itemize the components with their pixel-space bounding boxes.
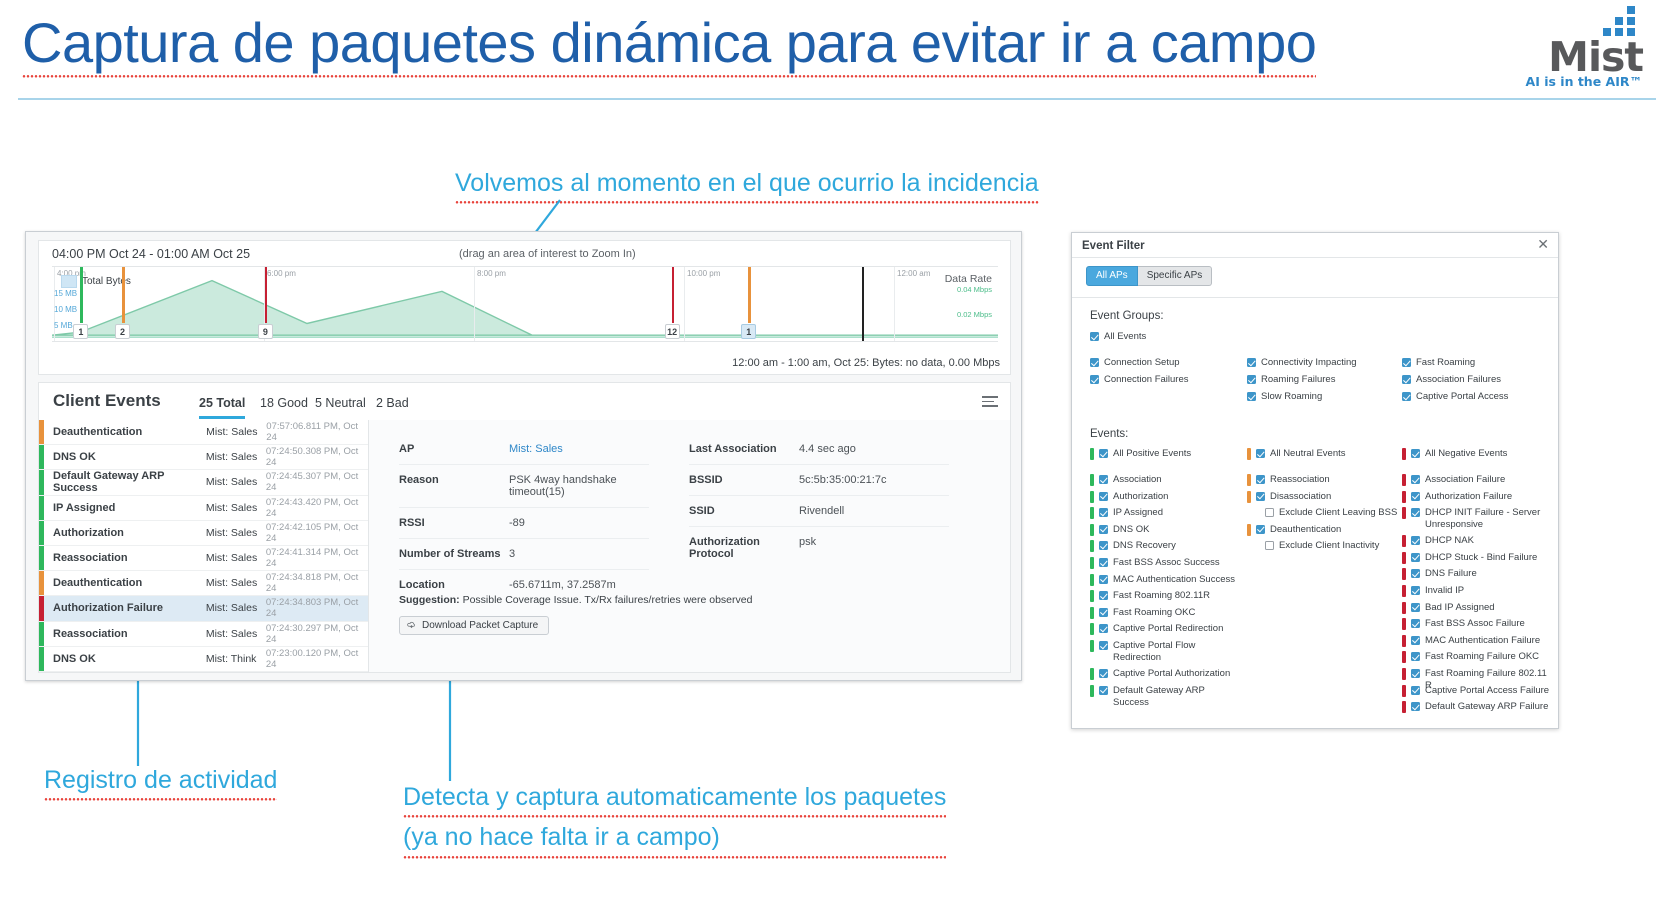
checkbox-event-type[interactable]: Fast Roaming OKC [1090, 607, 1240, 619]
severity-pill-icon [1402, 474, 1406, 486]
segment-specific-aps[interactable]: Specific APs [1138, 266, 1213, 286]
checkbox-label: Authorization [1113, 491, 1168, 503]
client-event-row[interactable]: DNS OKMist: Think07:23:00.120 PM, Oct 24 [39, 647, 368, 672]
checkbox-label: Invalid IP [1425, 585, 1464, 597]
tab-neutral[interactable]: 5 Neutral [315, 396, 366, 416]
severity-pill-icon [1090, 590, 1094, 602]
event-name: Authorization Failure [53, 602, 206, 614]
download-button-label: Download Packet Capture [422, 620, 538, 631]
event-groups-label: Event Groups: [1090, 310, 1164, 322]
checkbox-label: Fast BSS Assoc Failure [1425, 618, 1525, 630]
tab-bad[interactable]: 2 Bad [376, 396, 409, 416]
checkbox-icon [1265, 541, 1274, 550]
event-filter-divider-1 [1072, 257, 1558, 258]
checkbox-icon [1411, 636, 1420, 645]
y-tick-5mb: 5 MB [54, 321, 73, 330]
client-event-row[interactable]: ReassociationMist: Sales07:24:30.297 PM,… [39, 622, 368, 647]
timeline-event-marker-bar[interactable] [748, 267, 751, 323]
detail-value: -89 [509, 517, 525, 529]
client-event-row[interactable]: DeauthenticationMist: Sales07:57:06.811 … [39, 420, 368, 445]
checkbox-icon [1411, 619, 1420, 628]
severity-pill-icon [1247, 474, 1251, 486]
checkbox-event-type[interactable]: Invalid IP [1402, 585, 1552, 597]
checkbox-event-type[interactable]: Exclude Client Inactivity [1265, 540, 1415, 552]
mist-dashboard-screenshot: 04:00 PM Oct 24 - 01:00 AM Oct 25 (drag … [25, 231, 1022, 681]
checkbox-event-type[interactable]: Default Gateway ARP Failure [1402, 701, 1552, 713]
checkbox-label: Fast Roaming 802.11R [1113, 590, 1210, 602]
checkbox-icon [1099, 669, 1108, 678]
checkbox-label: DHCP Stuck - Bind Failure [1425, 552, 1537, 564]
detail-row: APMist: Sales [399, 434, 649, 465]
event-name: DNS OK [53, 451, 206, 463]
checkbox-icon [1411, 652, 1420, 661]
timeline-event-marker-label[interactable]: 2 [115, 324, 130, 339]
detail-key: SSID [689, 505, 799, 517]
detail-row: BSSID5c:5b:35:00:21:7c [689, 465, 949, 496]
detail-key: AP [399, 443, 509, 455]
event-name: Reassociation [53, 628, 206, 640]
severity-pill-icon [1090, 557, 1094, 569]
detail-row: ReasonPSK 4way handshake timeout(15) [399, 465, 649, 508]
event-filter-panel: Event Filter ✕ All APs Specific APs Even… [1071, 232, 1559, 729]
checkbox-label: Slow Roaming [1261, 391, 1322, 403]
checkbox-event-type[interactable]: Captive Portal Redirection [1090, 623, 1240, 635]
download-cloud-icon [407, 621, 416, 630]
total-bytes-area-series [52, 267, 998, 341]
y-tick-15mb: 15 MB [54, 289, 77, 298]
event-name: Deauthentication [53, 577, 206, 589]
checkbox-label: Captive Portal Flow Redirection [1113, 640, 1240, 664]
checkbox-label: Captive Portal Access [1416, 391, 1508, 403]
event-severity-stripe [39, 571, 44, 595]
detail-key: Reason [399, 474, 509, 486]
severity-pill-icon [1247, 491, 1251, 503]
severity-pill-icon [1090, 540, 1094, 552]
checkbox-event-type[interactable]: DNS OK [1090, 524, 1240, 536]
detail-key: Number of Streams [399, 548, 509, 560]
detail-column-left: APMist: SalesReasonPSK 4way handshake ti… [399, 434, 649, 600]
event-ap: Mist: Sales [206, 476, 266, 488]
checkbox-icon [1099, 591, 1108, 600]
checkbox-label: Disassociation [1270, 491, 1331, 503]
checkbox-event-group[interactable]: Captive Portal Access [1402, 391, 1508, 403]
timeline-event-marker-bar[interactable] [672, 267, 675, 323]
checkbox-label: Connection Setup [1104, 357, 1180, 369]
severity-pill-icon [1402, 507, 1406, 519]
checkbox-label: DNS Failure [1425, 568, 1477, 580]
client-event-row[interactable]: IP AssignedMist: Sales07:24:43.420 PM, O… [39, 496, 368, 521]
checkbox-label: Captive Portal Authorization [1113, 668, 1230, 680]
event-timestamp: 07:24:42.105 PM, Oct 24 [266, 522, 368, 544]
checkbox-icon [1411, 536, 1420, 545]
legend-swatch-total-bytes [61, 275, 77, 288]
timeline-event-marker-label[interactable]: 12 [665, 324, 680, 339]
data-rate-value-2: 0.02 Mbps [945, 310, 992, 319]
severity-pill-icon [1402, 668, 1406, 680]
event-filter-title: Event Filter [1082, 240, 1145, 252]
event-severity-stripe [39, 647, 44, 671]
checkbox-all-negative-events[interactable]: All Negative Events [1402, 448, 1552, 460]
checkbox-icon [1099, 575, 1108, 584]
event-ap: Mist: Think [206, 653, 266, 665]
checkbox-all-events[interactable]: All Events [1090, 331, 1146, 343]
checkbox-event-group[interactable]: Slow Roaming [1247, 391, 1322, 403]
timeline-event-marker-bar[interactable] [80, 267, 83, 323]
checkbox-label: All Events [1104, 331, 1146, 343]
event-timestamp: 07:24:43.420 PM, Oct 24 [266, 497, 368, 519]
detail-key: RSSI [399, 517, 509, 529]
severity-pill-icon [1090, 474, 1094, 486]
timeline-zoom-hint: (drag an area of interest to Zoom In) [459, 248, 636, 260]
detail-row: RSSI-89 [399, 508, 649, 539]
checkbox-event-group[interactable]: Connection Failures [1090, 374, 1189, 386]
client-events-header: Client Events 25 Total 18 Good 5 Neutral… [39, 383, 1010, 420]
checkbox-icon [1411, 569, 1420, 578]
checkbox-icon [1411, 586, 1420, 595]
checkbox-label: Association Failure [1425, 474, 1505, 486]
checkbox-icon [1099, 686, 1108, 695]
severity-pill-icon [1402, 685, 1406, 697]
checkbox-label: Reassociation [1270, 474, 1330, 486]
severity-pill-icon [1402, 535, 1406, 547]
checkbox-label: MAC Authentication Success [1113, 574, 1235, 586]
checkbox-event-type[interactable]: Reassociation [1247, 474, 1397, 486]
checkbox-label: Default Gateway ARP Success [1113, 685, 1240, 709]
checkbox-icon [1402, 392, 1411, 401]
x-tick-4: 12:00 am [897, 269, 930, 278]
suggestion-text: Suggestion: Possible Coverage Issue. Tx/… [399, 594, 752, 606]
timeline-chart[interactable]: 4:00 pm 6:00 pm 8:00 pm 10:00 pm 12:00 a… [52, 266, 998, 342]
event-timestamp: 07:24:50.308 PM, Oct 24 [266, 446, 368, 468]
event-name: Default Gateway ARP Success [53, 470, 206, 494]
checkbox-icon [1099, 558, 1108, 567]
checkbox-icon [1256, 525, 1265, 534]
checkbox-label: All Negative Events [1425, 448, 1507, 460]
event-name: DNS OK [53, 653, 206, 665]
event-ap: Mist: Sales [206, 502, 266, 514]
event-timestamp: 07:24:34.803 PM, Oct 24 [266, 597, 368, 619]
timeline-card: 04:00 PM Oct 24 - 01:00 AM Oct 25 (drag … [38, 240, 1011, 375]
checkbox-icon [1099, 641, 1108, 650]
checkbox-icon [1411, 475, 1420, 484]
checkbox-label: Connectivity Impacting [1261, 357, 1357, 369]
severity-pill-icon [1247, 524, 1251, 536]
checkbox-label: MAC Authentication Failure [1425, 635, 1540, 647]
severity-pill-icon [1247, 448, 1251, 460]
detail-value: psk [799, 536, 816, 548]
event-name: Reassociation [53, 552, 206, 564]
checkbox-icon [1090, 375, 1099, 384]
checkbox-icon [1411, 508, 1420, 517]
detail-value: -65.6711m, 37.2587m [509, 579, 616, 591]
events-label: Events: [1090, 428, 1128, 440]
close-icon[interactable]: ✕ [1537, 237, 1549, 251]
data-rate-legend: Data Rate 0.04 Mbps 0.02 Mbps [945, 273, 992, 319]
checkbox-event-type[interactable]: Association Failure [1402, 474, 1552, 486]
detail-value[interactable]: Mist: Sales [509, 443, 563, 455]
event-severity-stripe [39, 596, 44, 620]
checkbox-label: Exclude Client Inactivity [1279, 540, 1379, 552]
checkbox-icon [1099, 525, 1108, 534]
detail-key: Last Association [689, 443, 799, 455]
annotation-bottom-middle-line1: Detecta y captura automaticamente los pa… [403, 782, 946, 818]
detail-value: Rivendell [799, 505, 844, 517]
checkbox-icon [1090, 332, 1099, 341]
ap-scope-segmented-control: All APs Specific APs [1086, 266, 1212, 286]
annotation-bottom-middle: Detecta y captura automaticamente los pa… [403, 782, 946, 859]
timeline-event-marker-label[interactable]: 1 [73, 324, 88, 339]
data-rate-value-1: 0.04 Mbps [945, 285, 992, 294]
checkbox-label: Fast BSS Assoc Success [1113, 557, 1220, 569]
checkbox-event-type[interactable]: Exclude Client Leaving BSS [1265, 507, 1415, 519]
checkbox-event-type[interactable]: Fast BSS Assoc Success [1090, 557, 1240, 569]
data-rate-label: Data Rate [945, 273, 992, 285]
checkbox-event-type[interactable]: DHCP NAK [1402, 535, 1552, 547]
checkbox-icon [1099, 508, 1108, 517]
checkbox-event-group[interactable]: Association Failures [1402, 374, 1501, 386]
checkbox-event-type[interactable]: DHCP INIT Failure - Server Unresponsive [1402, 507, 1552, 531]
severity-pill-icon [1402, 568, 1406, 580]
event-ap: Mist: Sales [206, 451, 266, 463]
segment-all-aps[interactable]: All APs [1086, 266, 1138, 286]
hamburger-icon[interactable] [982, 396, 998, 408]
timeline-event-marker-label[interactable]: 1 [741, 324, 756, 339]
checkbox-event-group[interactable]: Fast Roaming [1402, 357, 1475, 369]
checkbox-event-type[interactable]: IP Assigned [1090, 507, 1240, 519]
client-event-row[interactable]: Default Gateway ARP SuccessMist: Sales07… [39, 470, 368, 495]
checkbox-event-type[interactable]: MAC Authentication Failure [1402, 635, 1552, 647]
download-packet-capture-button[interactable]: Download Packet Capture [399, 616, 549, 635]
checkbox-label: Connection Failures [1104, 374, 1189, 386]
client-event-row[interactable]: AuthorizationMist: Sales07:24:42.105 PM,… [39, 521, 368, 546]
checkbox-icon [1411, 686, 1420, 695]
page-title: Captura de paquetes dinámica para evitar… [22, 14, 1316, 78]
checkbox-event-type[interactable]: MAC Authentication Success [1090, 574, 1240, 586]
detail-value: PSK 4way handshake timeout(15) [509, 474, 649, 498]
checkbox-label: Roaming Failures [1261, 374, 1335, 386]
checkbox-icon [1090, 358, 1099, 367]
checkbox-event-type[interactable]: Fast Roaming Failure OKC [1402, 651, 1552, 663]
event-timestamp: 07:24:34.818 PM, Oct 24 [266, 572, 368, 594]
detail-value: 5c:5b:35:00:21:7c [799, 474, 886, 486]
checkbox-event-group[interactable]: Roaming Failures [1247, 374, 1335, 386]
detail-row: SSIDRivendell [689, 496, 949, 527]
checkbox-label: DHCP NAK [1425, 535, 1474, 547]
checkbox-event-group[interactable]: Connection Setup [1090, 357, 1180, 369]
event-severity-stripe [39, 420, 44, 444]
severity-pill-icon [1402, 701, 1406, 713]
checkbox-event-group[interactable]: Connectivity Impacting [1247, 357, 1357, 369]
severity-pill-icon [1090, 507, 1094, 519]
severity-pill-icon [1090, 623, 1094, 635]
checkbox-event-type[interactable]: Captive Portal Access Failure [1402, 685, 1552, 697]
client-event-row[interactable]: ReassociationMist: Sales07:24:41.314 PM,… [39, 546, 368, 571]
checkbox-label: All Positive Events [1113, 448, 1191, 460]
severity-pill-icon [1090, 491, 1094, 503]
checkbox-label: Captive Portal Redirection [1113, 623, 1223, 635]
event-timestamp: 07:24:30.297 PM, Oct 24 [266, 623, 368, 645]
checkbox-event-type[interactable]: Disassociation [1247, 491, 1397, 503]
checkbox-icon [1247, 392, 1256, 401]
checkbox-icon [1247, 375, 1256, 384]
severity-pill-icon [1402, 585, 1406, 597]
checkbox-event-type[interactable]: Fast Roaming 802.11R [1090, 590, 1240, 602]
severity-pill-icon [1402, 491, 1406, 503]
checkbox-icon [1247, 358, 1256, 367]
tab-good[interactable]: 18 Good [260, 396, 308, 416]
event-severity-stripe [39, 622, 44, 646]
checkbox-all-positive-events[interactable]: All Positive Events [1090, 448, 1240, 460]
x-tick-3: 10:00 pm [687, 269, 720, 278]
checkbox-event-type[interactable]: Bad IP Assigned [1402, 602, 1552, 614]
checkbox-label: Fast Roaming Failure OKC [1425, 651, 1539, 663]
checkbox-icon [1402, 358, 1411, 367]
severity-pill-icon [1090, 574, 1094, 586]
checkbox-event-type[interactable]: Captive Portal Authorization [1090, 668, 1240, 680]
client-events-title: Client Events [53, 391, 161, 411]
suggestion-label: Suggestion: [399, 594, 460, 606]
severity-pill-icon [1090, 524, 1094, 536]
detail-value: 4.4 sec ago [799, 443, 856, 455]
checkbox-icon [1099, 541, 1108, 550]
checkbox-label: Default Gateway ARP Failure [1425, 701, 1548, 713]
event-severity-stripe [39, 445, 44, 469]
annotation-bottom-middle-line2: (ya no hace falta ir a campo) [403, 822, 946, 858]
detail-row: Last Association4.4 sec ago [689, 434, 949, 465]
severity-pill-icon [1402, 635, 1406, 647]
checkbox-event-type[interactable]: Deauthentication [1247, 524, 1397, 536]
event-name: Authorization [53, 527, 206, 539]
event-name: Deauthentication [53, 426, 206, 438]
checkbox-label: Association Failures [1416, 374, 1501, 386]
tab-total[interactable]: 25 Total [199, 396, 245, 419]
checkbox-label: All Neutral Events [1270, 448, 1346, 460]
checkbox-icon [1411, 449, 1420, 458]
checkbox-event-type[interactable]: Fast BSS Assoc Failure [1402, 618, 1552, 630]
event-ap: Mist: Sales [206, 426, 266, 438]
event-ap: Mist: Sales [206, 527, 266, 539]
checkbox-icon [1099, 475, 1108, 484]
client-events-list[interactable]: DeauthenticationMist: Sales07:57:06.811 … [39, 420, 369, 672]
severity-pill-icon [1090, 640, 1094, 652]
event-severity-stripe [39, 496, 44, 520]
checkbox-label: DNS Recovery [1113, 540, 1176, 552]
checkbox-event-type[interactable]: Authorization Failure [1402, 491, 1552, 503]
checkbox-icon [1256, 449, 1265, 458]
checkbox-label: Deauthentication [1270, 524, 1341, 536]
detail-row: Authorization Protocolpsk [689, 527, 949, 569]
timeline-event-marker-bar[interactable] [122, 267, 125, 323]
event-severity-stripe [39, 521, 44, 545]
checkbox-event-type[interactable]: Association [1090, 474, 1240, 486]
severity-pill-icon [1090, 448, 1094, 460]
checkbox-icon [1265, 508, 1274, 517]
severity-pill-icon [1402, 552, 1406, 564]
suggestion-body: Possible Coverage Issue. Tx/Rx failures/… [460, 594, 753, 606]
checkbox-icon [1256, 475, 1265, 484]
checkbox-icon [1099, 449, 1108, 458]
checkbox-icon [1099, 624, 1108, 633]
event-timestamp: 07:24:41.314 PM, Oct 24 [266, 547, 368, 569]
checkbox-all-neutral-events[interactable]: All Neutral Events [1247, 448, 1397, 460]
checkbox-icon [1099, 608, 1108, 617]
client-event-row[interactable]: DeauthenticationMist: Sales07:24:34.818 … [39, 571, 368, 596]
checkbox-icon [1411, 702, 1420, 711]
checkbox-icon [1256, 492, 1265, 501]
checkbox-label: Bad IP Assigned [1425, 602, 1495, 614]
severity-pill-icon [1090, 607, 1094, 619]
detail-row: Number of Streams3 [399, 539, 649, 570]
event-detail-pane: APMist: SalesReasonPSK 4way handshake ti… [369, 420, 1010, 672]
mist-tagline: AI is in the AIR™ [1526, 74, 1642, 89]
checkbox-label: Association [1113, 474, 1162, 486]
checkbox-icon [1411, 669, 1420, 678]
event-timestamp: 07:23:00.120 PM, Oct 24 [266, 648, 368, 670]
checkbox-icon [1099, 492, 1108, 501]
detail-key: Authorization Protocol [689, 536, 799, 560]
checkbox-label: Fast Roaming OKC [1113, 607, 1195, 619]
checkbox-icon [1411, 492, 1420, 501]
event-ap: Mist: Sales [206, 577, 266, 589]
event-name: IP Assigned [53, 502, 206, 514]
severity-pill-icon [1402, 602, 1406, 614]
checkbox-label: DHCP INIT Failure - Server Unresponsive [1425, 507, 1552, 531]
checkbox-icon [1402, 375, 1411, 384]
checkbox-event-type[interactable]: DNS Recovery [1090, 540, 1240, 552]
checkbox-event-type[interactable]: DNS Failure [1402, 568, 1552, 580]
detail-key: BSSID [689, 474, 799, 486]
checkbox-event-type[interactable]: Authorization [1090, 491, 1240, 503]
checkbox-event-type[interactable]: Captive Portal Flow Redirection [1090, 640, 1240, 664]
severity-pill-icon [1090, 685, 1094, 697]
checkbox-icon [1411, 603, 1420, 612]
severity-pill-icon [1402, 618, 1406, 630]
severity-pill-icon [1402, 448, 1406, 460]
x-tick-1: 6:00 pm [267, 269, 296, 278]
checkbox-label: IP Assigned [1113, 507, 1163, 519]
checkbox-event-type[interactable]: DHCP Stuck - Bind Failure [1402, 552, 1552, 564]
event-filter-divider-2 [1072, 297, 1558, 298]
header-divider [18, 98, 1656, 100]
detail-column-right: Last Association4.4 sec agoBSSID5c:5b:35… [689, 434, 949, 569]
event-ap: Mist: Sales [206, 602, 266, 614]
event-timestamp: 07:57:06.811 PM, Oct 24 [266, 421, 368, 443]
annotation-bottom-left: Registro de actividad [44, 765, 277, 801]
checkbox-label: Fast Roaming [1416, 357, 1475, 369]
checkbox-event-type[interactable]: Default Gateway ARP Success [1090, 685, 1240, 709]
severity-pill-icon [1090, 668, 1094, 680]
timeline-footer-tooltip: 12:00 am - 1:00 am, Oct 25: Bytes: no da… [732, 357, 1000, 369]
timeline-event-marker-bar[interactable] [265, 267, 268, 323]
event-severity-stripe [39, 546, 44, 570]
client-event-row[interactable]: DNS OKMist: Sales07:24:50.308 PM, Oct 24 [39, 445, 368, 470]
detail-value: 3 [509, 548, 515, 560]
event-severity-stripe [39, 470, 44, 494]
x-tick-2: 8:00 pm [477, 269, 506, 278]
mist-logo: Mist AI is in the AIR™ [1523, 6, 1643, 86]
client-event-row[interactable]: Authorization FailureMist: Sales07:24:34… [39, 596, 368, 621]
timeline-range-label: 04:00 PM Oct 24 - 01:00 AM Oct 25 [52, 247, 250, 261]
checkbox-label: Authorization Failure [1425, 491, 1512, 503]
event-timestamp: 07:24:45.307 PM, Oct 24 [266, 471, 368, 493]
detail-key: Location [399, 579, 509, 591]
client-events-card: Client Events 25 Total 18 Good 5 Neutral… [38, 382, 1011, 673]
checkbox-label: DNS OK [1113, 524, 1149, 536]
severity-pill-icon [1402, 651, 1406, 663]
timeline-event-marker-label[interactable]: 9 [258, 324, 273, 339]
checkbox-label: Exclude Client Leaving BSS [1279, 507, 1397, 519]
y-tick-10mb: 10 MB [54, 305, 77, 314]
